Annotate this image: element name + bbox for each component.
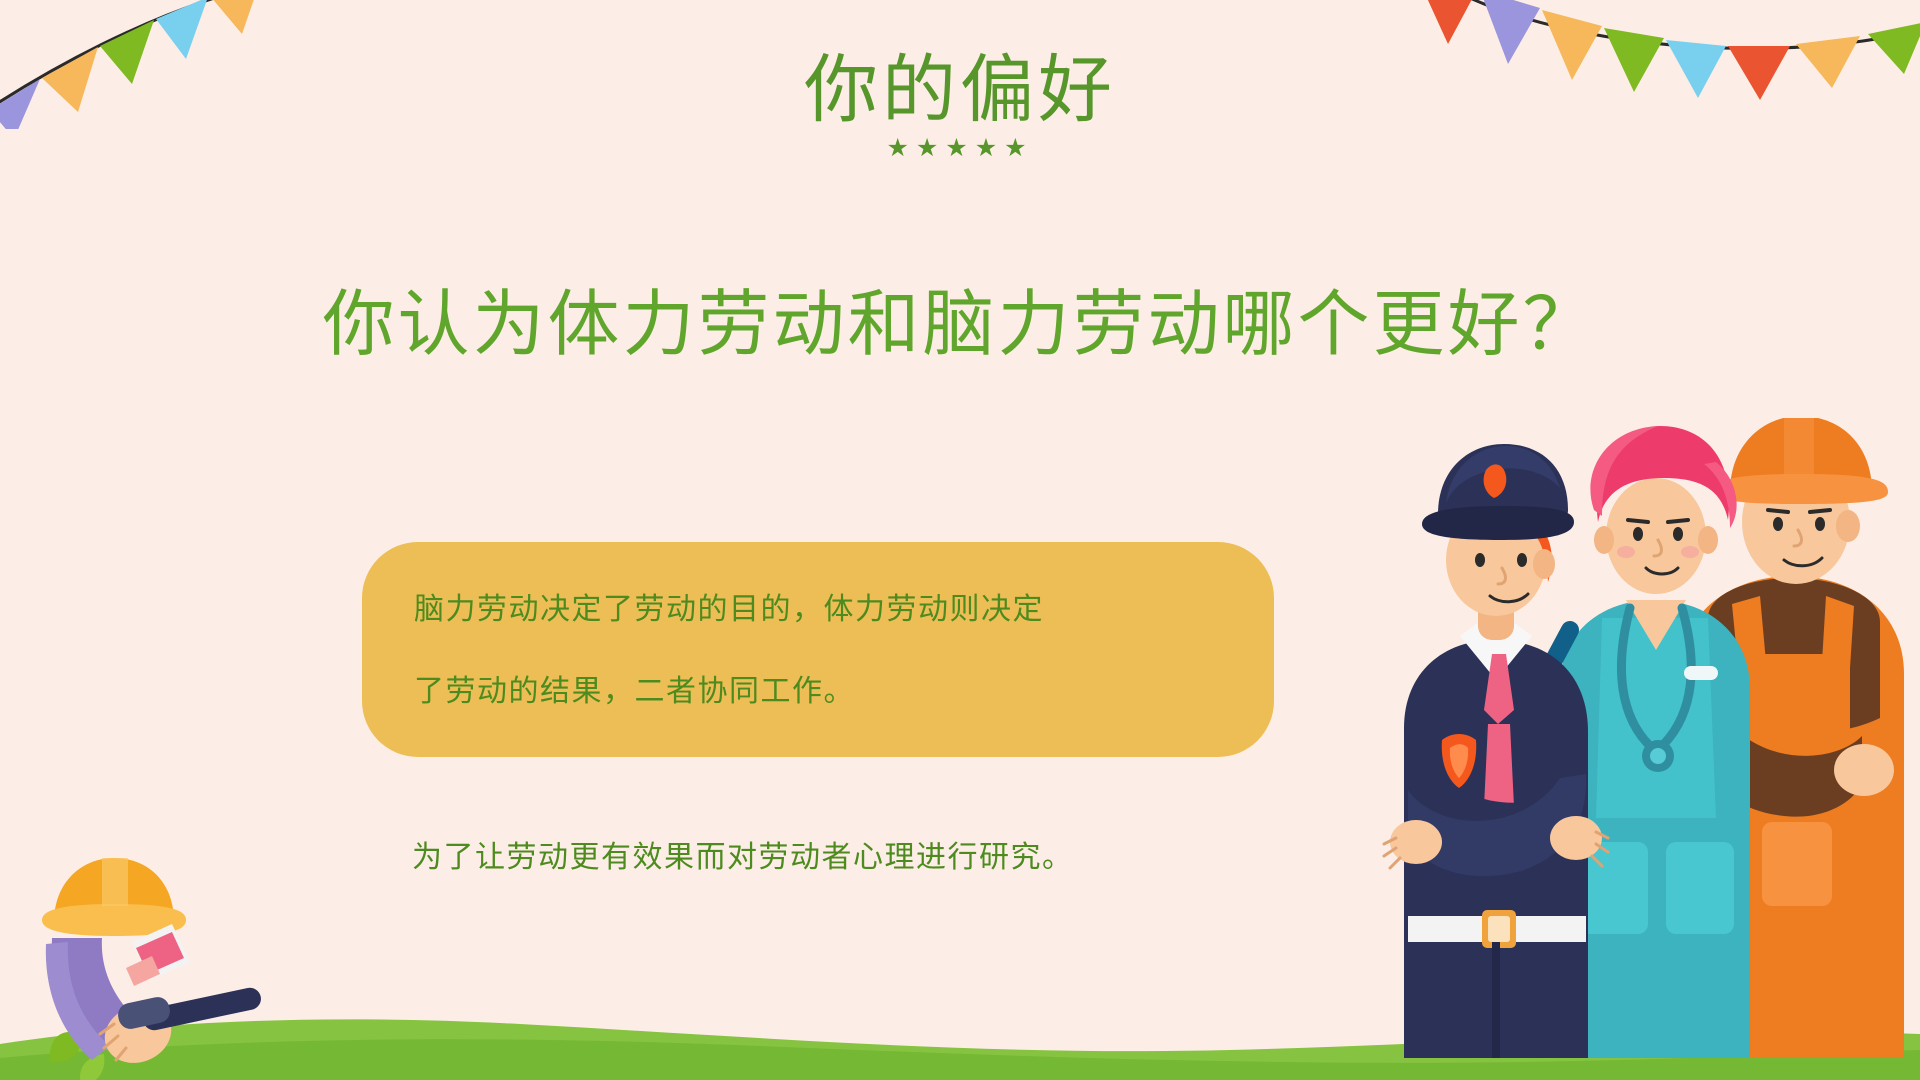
callout-line-1: 脑力劳动决定了劳动的目的，体力劳动则决定 xyxy=(414,595,1222,625)
title-stars: ★★★★★ xyxy=(0,136,1920,161)
title-block: 你的偏好 ★★★★★ xyxy=(0,52,1920,161)
construction-worker xyxy=(1682,418,1904,1058)
nurse xyxy=(1560,426,1750,1058)
page-title: 你的偏好 xyxy=(0,52,1920,130)
hand-holding-helmet-and-roller xyxy=(0,0,1920,1080)
grass-strip xyxy=(0,1010,1920,1080)
worker-characters-group xyxy=(0,0,1920,1080)
bunting-left xyxy=(0,0,1920,1080)
callout-line-2: 了劳动的结果，二者协同工作。 xyxy=(414,677,1222,707)
question-heading: 你认为体力劳动和脑力劳动哪个更好？ xyxy=(0,285,1920,364)
footer-caption: 为了让劳动更有效果而对劳动者心理进行研究。 xyxy=(412,840,1074,876)
firefighter xyxy=(1384,444,1608,1058)
answer-callout-box: 脑力劳动决定了劳动的目的，体力劳动则决定 了劳动的结果，二者协同工作。 xyxy=(362,542,1274,757)
bunting-right xyxy=(0,0,1920,1080)
slide-canvas: 你的偏好 ★★★★★ 你认为体力劳动和脑力劳动哪个更好？ 脑力劳动决定了劳动的目… xyxy=(0,0,1920,1080)
